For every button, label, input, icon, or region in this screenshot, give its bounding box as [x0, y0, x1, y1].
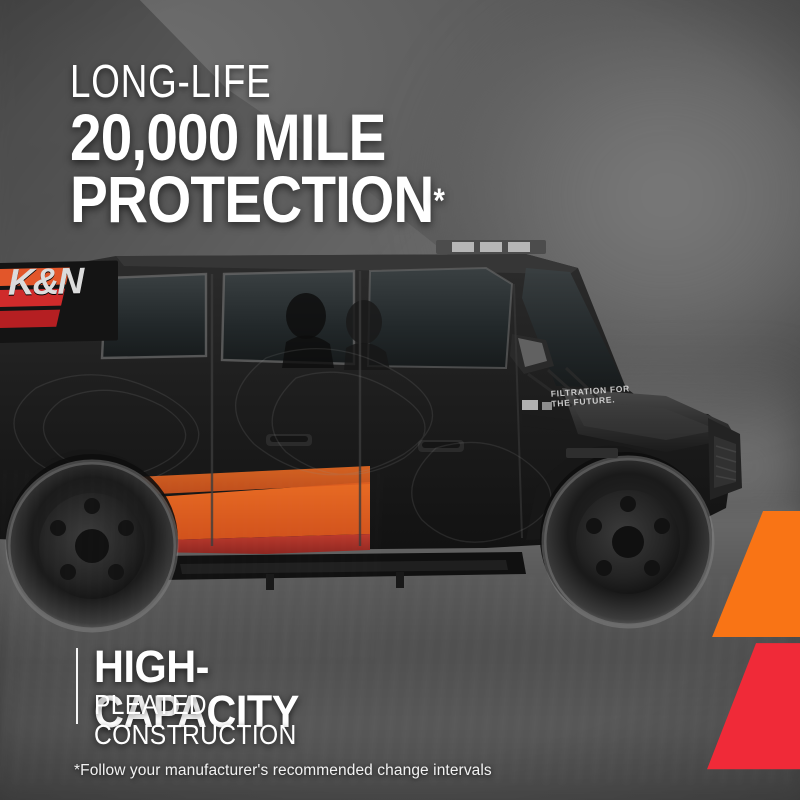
headline-line-1: 20,000 MILE — [70, 106, 385, 168]
advertisement-banner: K&N FILTRATION FOR THE FUTURE. LONG-LIFE… — [0, 0, 800, 800]
footnote-disclaimer: *Follow your manufacturer's recommended … — [74, 762, 492, 780]
headline-line-2: PROTECTION* — [70, 168, 444, 230]
headline-asterisk: * — [434, 182, 445, 220]
headline-line-2-text: PROTECTION — [70, 162, 434, 236]
headline-eyebrow: LONG-LIFE — [70, 58, 271, 104]
subheadline-line-2: PLEATED CONSTRUCTION — [94, 690, 297, 750]
subheadline-divider-rule — [76, 648, 78, 724]
